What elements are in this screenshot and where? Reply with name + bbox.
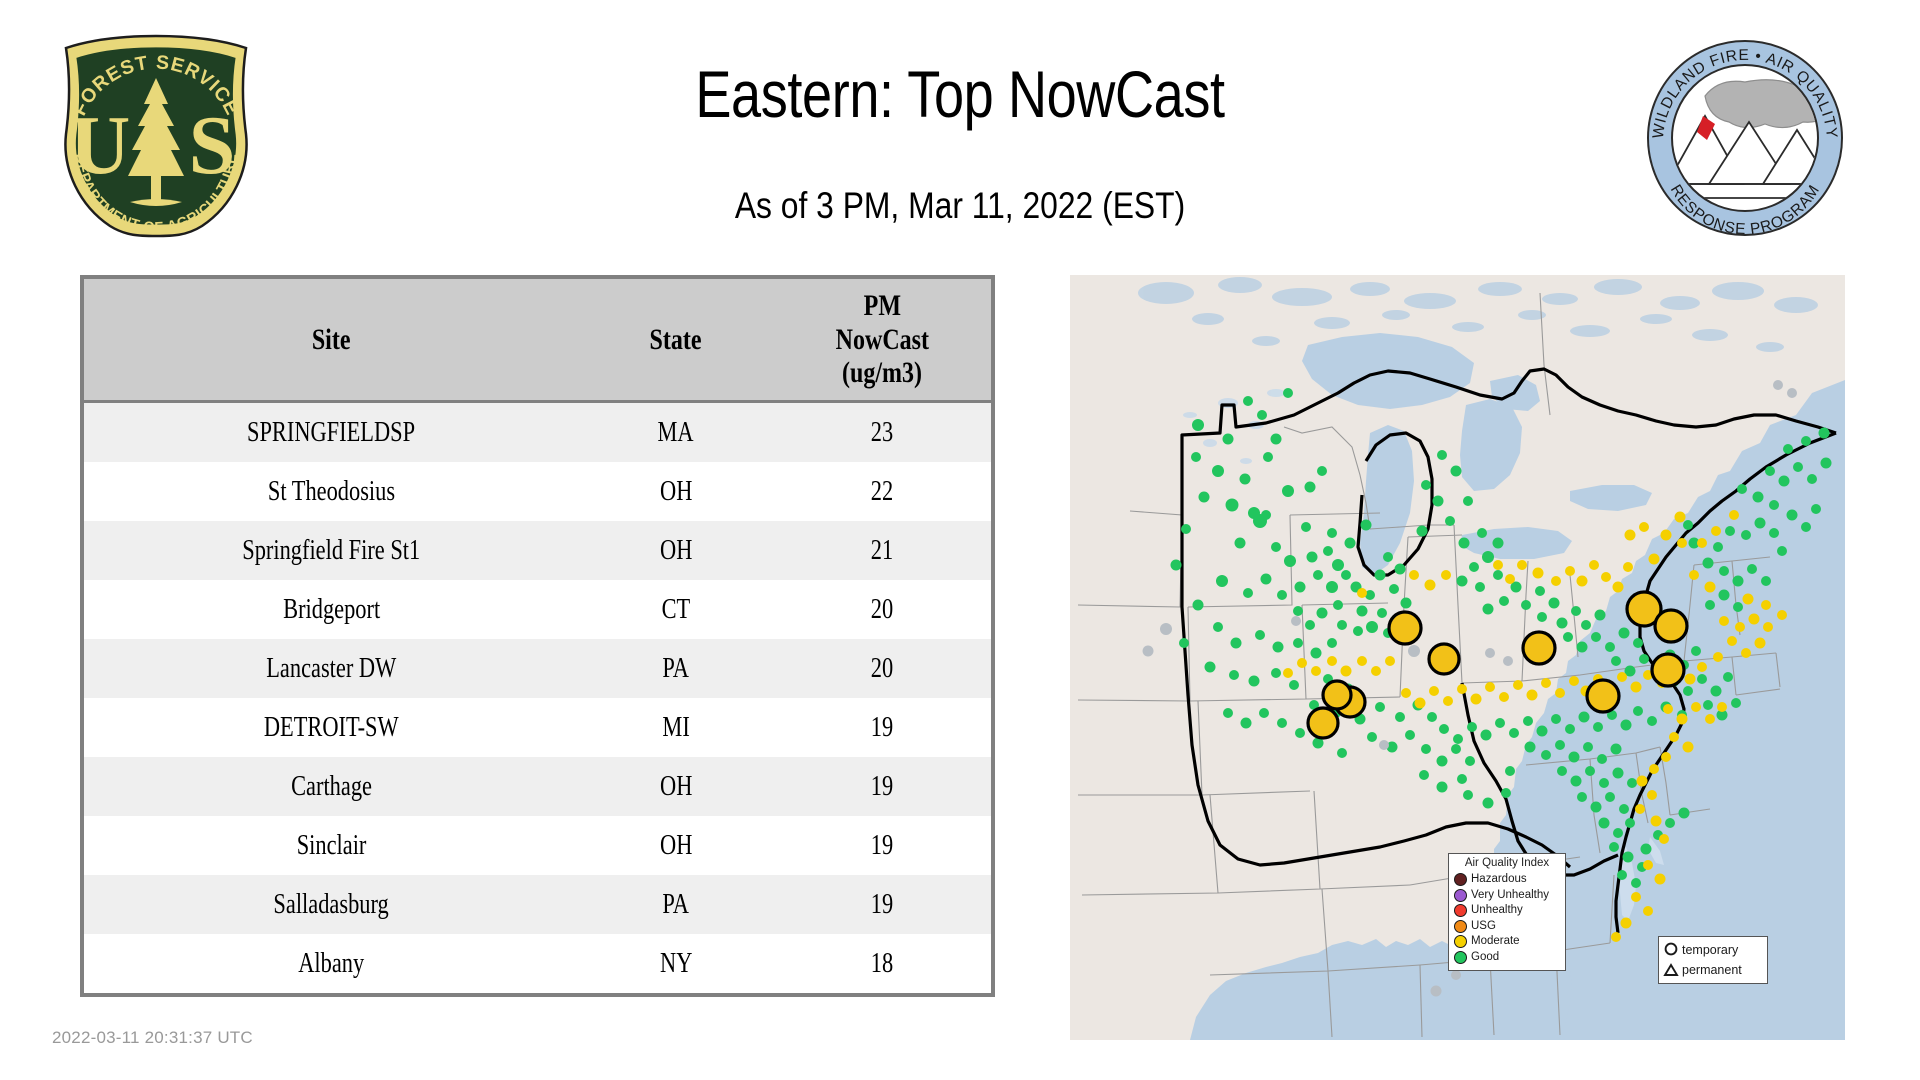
table-header-row: Site State PM NowCast (ug/m3) (84, 279, 991, 401)
table-row: Sinclair OH 19 (84, 816, 991, 875)
site-type-label: permanent (1682, 964, 1742, 977)
top-site-marker-sinclair (1323, 681, 1351, 709)
nowcast-table: Site State PM NowCast (ug/m3) SPRINGFIEL… (84, 279, 991, 993)
table-row: Bridgeport CT 20 (84, 580, 991, 639)
triangle-glyph-icon (1663, 962, 1679, 978)
page-title: Eastern: Top NowCast (419, 58, 1501, 131)
top-site-marker-detroit-sw (1389, 612, 1421, 644)
usg-swatch-icon (1454, 920, 1467, 933)
cell-site: Bridgeport (84, 580, 578, 639)
cell-site: SPRINGFIELDSP (84, 401, 578, 462)
column-header-site: Site (84, 279, 578, 401)
very-unhealthy-swatch-icon (1454, 889, 1467, 902)
cell-pm: 18 (773, 934, 991, 993)
cell-pm: 19 (773, 757, 991, 816)
usfs-letter-s: S (189, 99, 236, 192)
cell-site: Salladasburg (84, 875, 578, 934)
generated-timestamp: 2022-03-11 20:31:37 UTC (52, 1028, 253, 1048)
site-type-legend: temporary permanent (1658, 936, 1768, 984)
column-header-site-label: Site (312, 323, 351, 357)
circle-glyph-icon (1663, 942, 1679, 958)
cell-state: MA (578, 401, 773, 462)
cell-pm: 21 (773, 521, 991, 580)
cell-state: MI (578, 698, 773, 757)
aqi-legend-item-moderate: Moderate (1454, 934, 1560, 950)
cell-pm: 19 (773, 875, 991, 934)
cell-site: Albany (84, 934, 578, 993)
aqi-legend: Air Quality Index Hazardous Very Unhealt… (1448, 853, 1566, 971)
table-row: DETROIT-SW MI 19 (84, 698, 991, 757)
column-header-pm-line2: NowCast (835, 323, 928, 357)
site-type-item-temporary: temporary (1663, 940, 1763, 960)
cell-pm: 23 (773, 401, 991, 462)
aqi-legend-label: Hazardous (1471, 874, 1527, 886)
usfs-shield-logo: FOREST SERVICE DEPARTMENT OF AGRICULTURE… (52, 30, 260, 240)
column-header-pm-nowcast: PM NowCast (ug/m3) (773, 279, 991, 401)
site-type-label: temporary (1682, 944, 1738, 957)
cell-state: OH (578, 816, 773, 875)
table-row: SPRINGFIELDSP MA 23 (84, 401, 991, 462)
aqi-legend-title: Air Quality Index (1454, 857, 1560, 870)
cell-state: CT (578, 580, 773, 639)
cell-state: OH (578, 521, 773, 580)
cell-pm: 19 (773, 816, 991, 875)
aqi-legend-label: Good (1471, 952, 1499, 964)
column-header-pm-line3: (ug/m3) (842, 356, 922, 390)
aqi-legend-item-hazardous: Hazardous (1454, 872, 1560, 888)
cell-state: NY (578, 934, 773, 993)
cell-pm: 20 (773, 639, 991, 698)
cell-state: PA (578, 875, 773, 934)
page-subtitle: As of 3 PM, Mar 11, 2022 (EST) (392, 185, 1527, 227)
table-row: Carthage OH 19 (84, 757, 991, 816)
cell-state: OH (578, 462, 773, 521)
hazardous-swatch-icon (1454, 873, 1467, 886)
column-header-pm-line1: PM (863, 289, 900, 323)
top-site-marker-springfieldsp (1655, 610, 1687, 642)
top-site-marker-bridgeport (1652, 654, 1684, 686)
aqi-legend-item-usg: USG (1454, 919, 1560, 935)
aqi-legend-label: USG (1471, 921, 1496, 933)
aqi-legend-label: Moderate (1471, 936, 1520, 948)
cell-site: Sinclair (84, 816, 578, 875)
cell-state: PA (578, 639, 773, 698)
aqi-legend-item-good: Good (1454, 950, 1560, 966)
aqi-legend-label: Very Unhealthy (1471, 890, 1549, 902)
table-row: Albany NY 18 (84, 934, 991, 993)
top-site-marker-salladasburg (1523, 632, 1555, 664)
cell-site: Lancaster DW (84, 639, 578, 698)
moderate-swatch-icon (1454, 935, 1467, 948)
nowcast-table-container: Site State PM NowCast (ug/m3) SPRINGFIEL… (80, 275, 995, 997)
unhealthy-swatch-icon (1454, 904, 1467, 917)
top-site-marker-st-theodosius (1429, 644, 1459, 674)
column-header-state: State (578, 279, 773, 401)
aqi-legend-label: Unhealthy (1471, 905, 1523, 917)
cell-state: OH (578, 757, 773, 816)
cell-pm: 19 (773, 698, 991, 757)
cell-pm: 22 (773, 462, 991, 521)
table-body: SPRINGFIELDSP MA 23 St Theodosius OH 22 … (84, 401, 991, 993)
aqi-legend-item-unhealthy: Unhealthy (1454, 903, 1560, 919)
top-site-marker-lancaster-dw (1587, 680, 1619, 712)
usfs-letter-u: U (70, 99, 131, 192)
aqi-legend-item-very-unhealthy: Very Unhealthy (1454, 888, 1560, 904)
table-row: St Theodosius OH 22 (84, 462, 991, 521)
cell-site: Carthage (84, 757, 578, 816)
table-row: Lancaster DW PA 20 (84, 639, 991, 698)
cell-pm: 20 (773, 580, 991, 639)
good-swatch-icon (1454, 951, 1467, 964)
table-row: Springfield Fire St1 OH 21 (84, 521, 991, 580)
cell-site: St Theodosius (84, 462, 578, 521)
column-header-state-label: State (650, 323, 702, 357)
wfaqrp-circle-logo: WILDLAND FIRE • AIR QUALITY RESPONSE PRO… (1645, 38, 1845, 238)
site-type-item-permanent: permanent (1663, 960, 1763, 980)
top-site-marker-springfield-fire-st1 (1308, 708, 1338, 738)
cell-site: Springfield Fire St1 (84, 521, 578, 580)
table-row: Salladasburg PA 19 (84, 875, 991, 934)
cell-site: DETROIT-SW (84, 698, 578, 757)
nowcast-report-page: FOREST SERVICE DEPARTMENT OF AGRICULTURE… (0, 0, 1920, 1080)
